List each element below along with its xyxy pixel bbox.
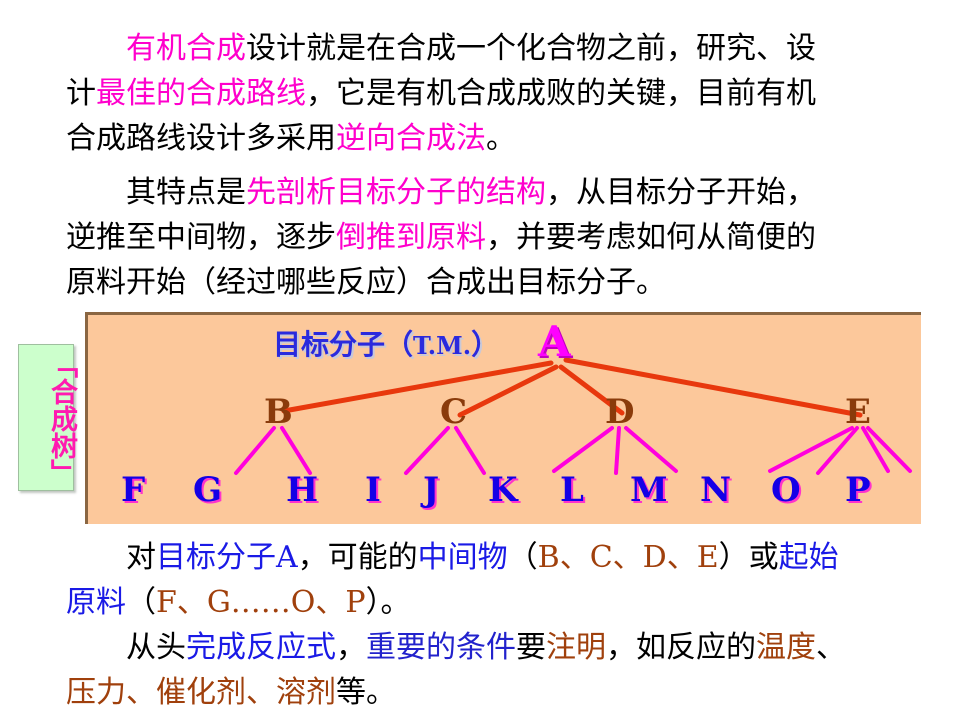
text-run: 倒推到原料: [336, 220, 486, 255]
paragraph-2: 其特点是先剖析目标分子的结构，从目标分子开始， 逆推至中间物，逐步倒推到原料，并…: [66, 170, 816, 305]
text-run: ，可能的: [298, 540, 418, 575]
edge-c-h: [406, 428, 448, 473]
slide-canvas: 有机合成设计就是在合成一个化合物之前，研究、设 计最佳的合成路线，它是有机合成成…: [0, 0, 960, 720]
paragraph-1-line-2: 计最佳的合成路线，它是有机合成成败的关键，目前有机: [66, 71, 816, 116]
text-run: ）或: [719, 540, 779, 575]
text-run: 、: [816, 630, 846, 665]
tm-label-prefix: 目标分子（: [273, 328, 413, 361]
tree-leaf-j: J: [423, 473, 439, 507]
text-run: 要: [516, 630, 546, 665]
root-edge-group: [284, 360, 860, 415]
synthesis-tree-label-box: 「合成树」: [18, 344, 74, 491]
text-run: 中间物: [418, 540, 508, 575]
text-run: 逆推至中间物，逐步: [66, 220, 336, 255]
text-run: 对: [126, 540, 156, 575]
text-run: 原料: [66, 585, 126, 620]
text-run: ，如反应的: [606, 630, 756, 665]
tree-node-b: B: [264, 395, 293, 429]
tm-label-abbr: T.M.: [413, 331, 471, 360]
text-run: 原料开始（经过哪些反应）合成出目标分子。: [66, 265, 666, 300]
paragraph-3-line-2: 原料（F、G……O、P）。: [66, 580, 839, 625]
paragraph-4-line-1: 从头完成反应式，重要的条件要注明，如反应的温度、: [66, 625, 846, 670]
tree-leaf-h: H: [286, 473, 318, 507]
text-run: 逆向合成法: [336, 121, 486, 156]
text-run: 设计就是在合成一个化合物之前，研究、设: [246, 31, 816, 66]
text-run: 。: [486, 121, 516, 156]
tree-leaf-o: O: [771, 473, 801, 507]
tree-leaf-m: M: [630, 473, 668, 507]
paragraph-4: 从头完成反应式，重要的条件要注明，如反应的温度、 压力、催化剂、溶剂等。: [66, 625, 846, 715]
text-run: 温度: [756, 630, 816, 665]
tree-leaf-l: L: [560, 473, 584, 507]
paragraph-1-line-3: 合成路线设计多采用逆向合成法。: [66, 116, 816, 161]
edge-c-i: [456, 428, 484, 473]
edge-d-l: [626, 428, 676, 471]
tree-leaf-f: F: [121, 473, 145, 507]
tree-leaf-n: N: [700, 473, 731, 507]
tree-leaf-p: P: [845, 473, 871, 507]
target-molecule-label: 目标分子（T.M.）: [273, 323, 499, 363]
text-run: 等。: [336, 675, 396, 710]
text-run: （: [126, 585, 156, 620]
edge-d-k: [616, 428, 619, 473]
edge-d-j: [554, 428, 612, 471]
text-run: 重要的条件: [366, 630, 516, 665]
text-run: 先剖析目标分子的结构: [246, 175, 546, 210]
paragraph-4-line-2: 压力、催化剂、溶剂等。: [66, 670, 846, 715]
tm-label-suffix: ）: [471, 328, 499, 361]
paragraph-2-line-3: 原料开始（经过哪些反应）合成出目标分子。: [66, 260, 816, 305]
text-run: ）。: [366, 585, 411, 620]
paragraph-2-line-1: 其特点是先剖析目标分子的结构，从目标分子开始，: [66, 170, 816, 215]
tree-node-a: A: [538, 321, 571, 363]
paragraph-1: 有机合成设计就是在合成一个化合物之前，研究、设 计最佳的合成路线，它是有机合成成…: [66, 26, 816, 161]
text-run: 压力、催化剂、溶剂: [66, 675, 336, 710]
text-run: 计: [66, 76, 96, 111]
text-run: 有机合成: [126, 31, 246, 66]
paragraph-2-line-2: 逆推至中间物，逐步倒推到原料，并要考虑如何从简便的: [66, 215, 816, 260]
paragraph-3-line-1: 对目标分子A，可能的中间物（B、C、D、E）或起始: [66, 535, 839, 580]
text-run: 从头: [126, 630, 186, 665]
text-run: （: [508, 540, 538, 575]
paragraph-3: 对目标分子A，可能的中间物（B、C、D、E）或起始 原料（F、G……O、P）。: [66, 535, 839, 625]
tree-leaf-g: G: [193, 473, 222, 507]
text-run: 完成反应式: [186, 630, 336, 665]
text-run: 目标分子A: [156, 540, 298, 575]
text-run: 最佳的合成路线: [96, 76, 306, 111]
tree-node-c: C: [440, 395, 467, 429]
text-run: ，: [336, 630, 366, 665]
text-run: ，从目标分子开始，: [546, 175, 816, 210]
text-run: 注明: [546, 630, 606, 665]
tree-leaf-i: I: [365, 473, 381, 507]
tree-leaf-k: K: [488, 473, 518, 507]
text-run: 其特点是: [126, 175, 246, 210]
text-run: F、G……O、P: [156, 585, 366, 620]
tree-node-d: D: [605, 395, 634, 429]
synthesis-tree-label-text: 「合成树」: [19, 349, 75, 487]
text-run: ，并要考虑如何从简便的: [486, 220, 816, 255]
edge-b-g: [282, 428, 310, 473]
leaf-edge-group: [236, 428, 910, 473]
text-run: ，它是有机合成成败的关键，目前有机: [306, 76, 816, 111]
edge-b-f: [236, 428, 274, 473]
text-run: 起始: [779, 540, 839, 575]
text-run: 合成路线设计多采用: [66, 121, 336, 156]
text-run: B、C、D、E: [538, 540, 719, 575]
paragraph-1-line-1: 有机合成设计就是在合成一个化合物之前，研究、设: [66, 26, 816, 71]
synthesis-tree-figure: 目标分子（T.M.） A B C D E F G H I J K L M N O…: [85, 312, 921, 524]
edge-a-c: [460, 367, 556, 415]
tree-node-e: E: [845, 395, 871, 429]
